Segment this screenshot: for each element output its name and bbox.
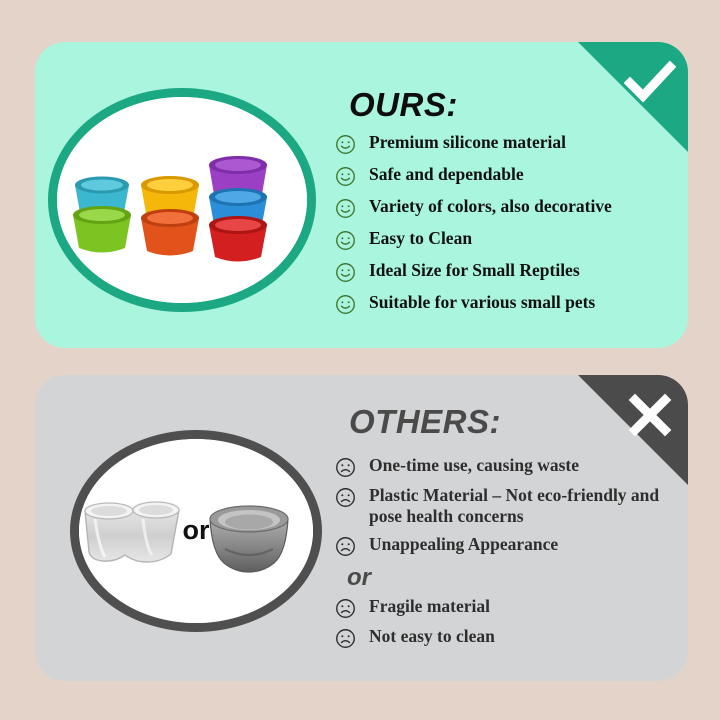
ours-feature-list: Premium silicone material Safe and depen…: [335, 132, 680, 324]
sad-face-icon: [335, 598, 356, 619]
list-item-label: Safe and dependable: [369, 164, 524, 185]
list-item-label: Easy to Clean: [369, 228, 472, 249]
sad-face-icon: [335, 628, 356, 649]
others-feature-list: One-time use, causing waste Plastic Mate…: [335, 455, 680, 656]
comparison-infographic: OURS: Premium silicone material: [0, 0, 720, 720]
list-item: Premium silicone material: [335, 132, 680, 155]
list-item-label: Not easy to clean: [369, 626, 495, 647]
check-icon: [624, 56, 676, 108]
list-item-label: Ideal Size for Small Reptiles: [369, 260, 580, 281]
list-item: Fragile material: [335, 596, 680, 619]
list-item: Safe and dependable: [335, 164, 680, 187]
list-item: Easy to Clean: [335, 228, 680, 251]
or-separator: or: [347, 564, 680, 592]
smiley-icon: [335, 166, 356, 187]
list-item-label: Fragile material: [369, 596, 490, 617]
list-item-label: Plastic Material – Not eco-friendly and …: [369, 485, 680, 527]
list-item: Unappealing Appearance: [335, 534, 680, 557]
list-item: Ideal Size for Small Reptiles: [335, 260, 680, 283]
ours-heading: OURS:: [349, 86, 458, 124]
sad-face-icon: [335, 536, 356, 557]
list-item-label: Variety of colors, also decorative: [369, 196, 612, 217]
list-item: Variety of colors, also decorative: [335, 196, 680, 219]
ours-product-photo: [48, 88, 316, 312]
smiley-icon: [335, 294, 356, 315]
list-item-label: Unappealing Appearance: [369, 534, 558, 555]
list-item: Plastic Material – Not eco-friendly and …: [335, 485, 680, 527]
smiley-icon: [335, 198, 356, 219]
list-item: Not easy to clean: [335, 626, 680, 649]
colorful-bowls-illustration: [57, 97, 307, 303]
sad-face-icon: [335, 457, 356, 478]
smiley-icon: [335, 262, 356, 283]
smiley-icon: [335, 230, 356, 251]
others-heading: OTHERS:: [349, 403, 501, 441]
sad-face-icon: [335, 487, 356, 508]
cross-icon: [624, 389, 676, 441]
list-item-label: Suitable for various small pets: [369, 292, 595, 313]
list-item-label: One-time use, causing waste: [369, 455, 579, 476]
others-product-photo: or: [70, 430, 322, 632]
or-label: or: [183, 515, 210, 545]
disposable-containers-illustration: or: [79, 439, 313, 623]
list-item: One-time use, causing waste: [335, 455, 680, 478]
list-item-label: Premium silicone material: [369, 132, 566, 153]
smiley-icon: [335, 134, 356, 155]
list-item: Suitable for various small pets: [335, 292, 680, 315]
